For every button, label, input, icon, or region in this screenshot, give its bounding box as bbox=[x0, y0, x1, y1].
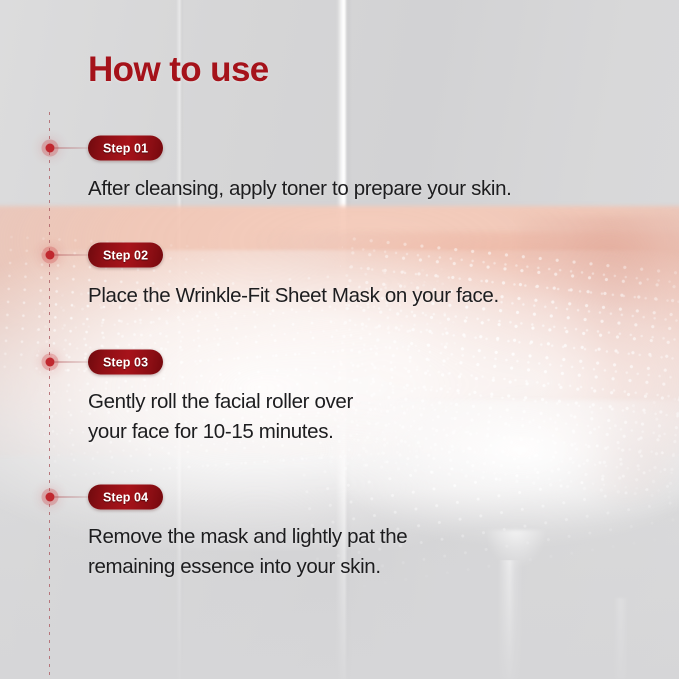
step-badge-03: Step 03 bbox=[88, 350, 163, 375]
step-badge-04: Step 04 bbox=[88, 485, 163, 510]
step-text-03: Gently roll the facial roller over your … bbox=[88, 387, 353, 447]
step-text-04: Remove the mask and lightly pat the rema… bbox=[88, 522, 407, 582]
step-badge-02: Step 02 bbox=[88, 243, 163, 268]
timeline-connector-3 bbox=[54, 362, 90, 363]
timeline-connector-1 bbox=[54, 148, 90, 149]
timeline-connector-2 bbox=[54, 255, 90, 256]
step-text-02: Place the Wrinkle-Fit Sheet Mask on your… bbox=[88, 281, 499, 311]
step-text-01: After cleansing, apply toner to prepare … bbox=[88, 174, 512, 204]
page-title: How to use bbox=[88, 50, 269, 90]
timeline-connector-4 bbox=[54, 497, 90, 498]
how-to-use-infographic: How to use Step 01 After cleansing, appl… bbox=[0, 0, 679, 679]
bottom-fade-overlay bbox=[0, 489, 679, 679]
timeline-dashed-line bbox=[49, 112, 50, 679]
step-badge-01: Step 01 bbox=[88, 136, 163, 161]
